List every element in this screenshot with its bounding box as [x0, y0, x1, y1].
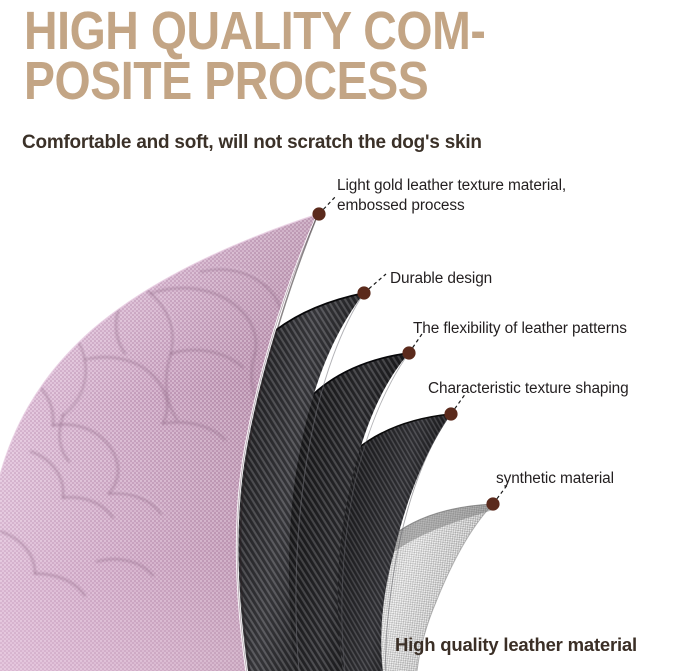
product-infographic: HIGH QUALITY COM- POSITE PROCESS Comfort…	[0, 0, 679, 671]
callout-label-flexibility-leather-patterns: The flexibility of leather patterns	[413, 319, 627, 339]
callout-dot-synthetic-material	[486, 497, 499, 510]
callout-dot-characteristic-texture	[444, 407, 457, 420]
callout-label-durable-design: Durable design	[390, 269, 492, 289]
footer-caption: High quality leather material	[395, 634, 637, 656]
callout-label-light-gold-leather: Light gold leather texture material, emb…	[337, 176, 566, 215]
callout-dot-flexibility-leather-patterns	[402, 346, 415, 359]
callout-dot-durable-design	[357, 286, 370, 299]
callout-label-characteristic-texture: Characteristic texture shaping	[428, 379, 629, 399]
callout-label-synthetic-material: synthetic material	[496, 469, 614, 489]
callout-dot-light-gold-leather	[312, 207, 325, 220]
